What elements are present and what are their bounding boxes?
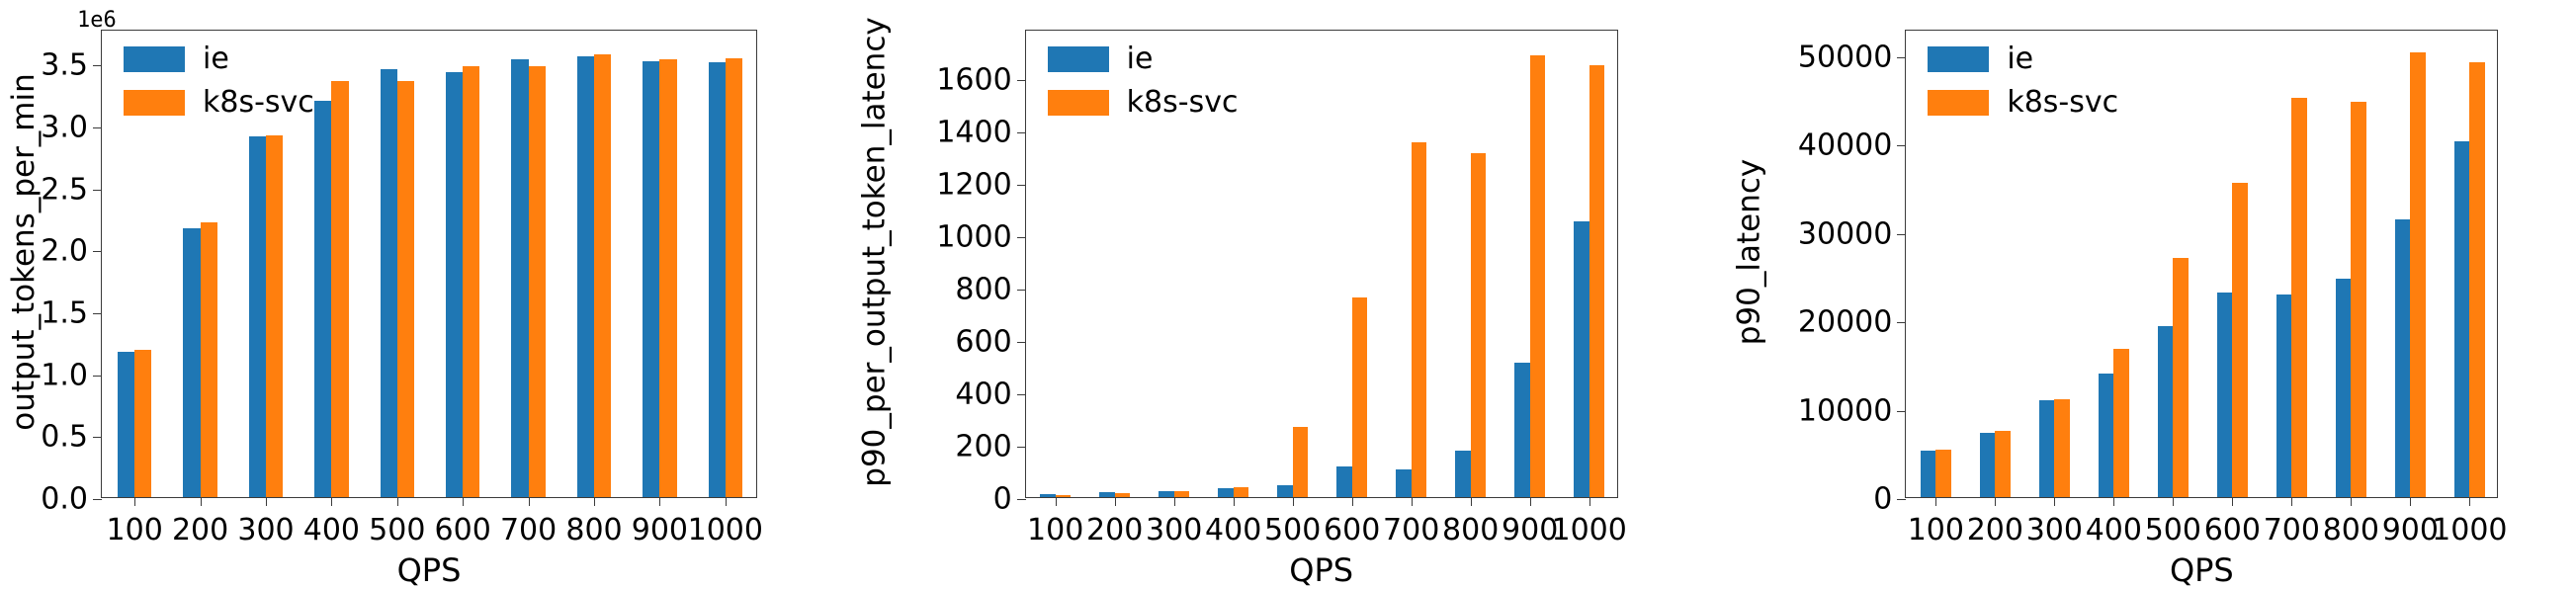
- x-axis-tick: [1995, 497, 1996, 506]
- x-axis-tick: [2469, 497, 2470, 506]
- bar-k8s-svc-100: [1935, 450, 1951, 497]
- legend-swatch-k8s-svc-icon: [124, 90, 185, 116]
- bar-k8s-svc-600: [463, 66, 479, 497]
- x-axis-tick: [726, 497, 727, 506]
- x-axis-tick-label: 900: [1502, 513, 1558, 547]
- x-axis-tick-label: 500: [369, 513, 425, 547]
- y-axis-tick-label: 40000: [1798, 128, 1892, 163]
- y-axis-tick-label: 400: [955, 378, 1011, 412]
- x-axis-tick: [331, 497, 332, 506]
- bar-k8s-svc-400: [331, 81, 348, 497]
- y-axis-tick: [93, 65, 102, 66]
- legend-entry-k8s-svc: k8s-svc: [1048, 88, 1239, 118]
- y-axis-tick-label: 600: [955, 325, 1011, 360]
- legend-swatch-k8s-svc-icon: [1048, 90, 1109, 116]
- axes-2: ie k8s-svc 02004006008001000120014001600…: [1025, 30, 1618, 498]
- x-axis-tick-label: 1000: [688, 513, 763, 547]
- bar-ie-800: [1455, 451, 1471, 497]
- y-axis-tick-label: 3.5: [41, 48, 88, 83]
- y-axis-tick-label: 2.0: [41, 234, 88, 269]
- x-axis-label-3: QPS: [1905, 551, 2498, 589]
- y-axis-tick-label: 50000: [1798, 40, 1892, 74]
- legend-swatch-ie-icon: [1928, 46, 1989, 72]
- bar-k8s-svc-1000: [2469, 62, 2485, 497]
- bar-ie-700: [1396, 469, 1412, 497]
- y-axis-tick: [1897, 145, 1906, 146]
- y-axis-tick-label: 0.5: [41, 420, 88, 455]
- x-axis-tick-label: 800: [2323, 513, 2379, 547]
- x-axis-tick-label: 100: [1027, 513, 1083, 547]
- x-axis-tick-label: 900: [632, 513, 688, 547]
- y-axis-tick: [1017, 80, 1026, 81]
- x-axis-tick: [201, 497, 202, 506]
- x-axis-tick-label: 800: [565, 513, 622, 547]
- bar-ie-900: [2395, 219, 2411, 497]
- x-axis-tick: [529, 497, 530, 506]
- legend-1: ie k8s-svc: [124, 44, 314, 118]
- bar-ie-900: [1514, 363, 1530, 497]
- legend-2: ie k8s-svc: [1048, 44, 1239, 118]
- bar-k8s-svc-1000: [1589, 65, 1605, 497]
- bar-ie-600: [446, 72, 463, 497]
- x-axis-tick-label: 700: [2264, 513, 2320, 547]
- panel-throughput: output_tokens_per_min 1e6 ie k8s-svc 0.0…: [0, 0, 859, 585]
- y-axis-tick: [1017, 342, 1026, 343]
- x-axis-tick: [2291, 497, 2292, 506]
- bar-ie-1000: [2454, 141, 2470, 497]
- y-axis-tick: [1017, 290, 1026, 291]
- x-axis-tick-label: 200: [1086, 513, 1143, 547]
- y-axis-tick: [1017, 394, 1026, 395]
- y-axis-tick-label: 10000: [1798, 393, 1892, 428]
- x-axis-tick: [2113, 497, 2114, 506]
- x-axis-tick-label: 700: [1383, 513, 1439, 547]
- x-axis-tick: [1056, 497, 1057, 506]
- bar-ie-500: [2158, 326, 2174, 497]
- legend-entry-ie: ie: [1928, 44, 2118, 74]
- y-axis-tick: [93, 499, 102, 500]
- x-axis-tick: [1115, 497, 1116, 506]
- bar-ie-200: [1099, 492, 1115, 497]
- legend-label-ie: ie: [203, 44, 229, 74]
- x-axis-tick-label: 600: [435, 513, 491, 547]
- x-axis-tick: [1589, 497, 1590, 506]
- bar-ie-600: [1336, 466, 1352, 497]
- bar-ie-100: [1921, 451, 1936, 497]
- bar-k8s-svc-600: [1352, 297, 1368, 497]
- bar-ie-300: [2039, 400, 2055, 497]
- y-axis-tick: [1017, 447, 1026, 448]
- y-axis-tick: [1897, 499, 1906, 500]
- x-axis-tick-label: 800: [1442, 513, 1499, 547]
- x-axis-label-1: QPS: [101, 551, 757, 589]
- y-axis-tick-label: 0.0: [41, 482, 88, 517]
- x-axis-tick-label: 400: [303, 513, 360, 547]
- y-axis-tick: [93, 127, 102, 128]
- x-axis-tick: [2173, 497, 2174, 506]
- y-axis-tick: [1897, 57, 1906, 58]
- x-axis-tick: [659, 497, 660, 506]
- legend-entry-ie: ie: [1048, 44, 1239, 74]
- y-axis-tick-label: 1400: [936, 116, 1011, 150]
- bar-k8s-svc-500: [2173, 258, 2189, 497]
- y-axis-tick: [1017, 185, 1026, 186]
- x-axis-tick-label: 300: [2026, 513, 2083, 547]
- y-axis-label-3: p90_latency: [1727, 6, 1770, 498]
- legend-entry-ie: ie: [124, 44, 314, 74]
- bar-ie-1000: [709, 62, 726, 497]
- bar-ie-1000: [1574, 221, 1589, 497]
- axes-3: ie k8s-svc 01000020000300004000050000100…: [1905, 30, 2498, 498]
- x-axis-tick: [1935, 497, 1936, 506]
- x-axis-tick: [1293, 497, 1294, 506]
- bar-ie-100: [118, 352, 134, 497]
- y-axis-tick-label: 1000: [936, 220, 1011, 255]
- bar-k8s-svc-200: [201, 222, 217, 497]
- y-axis-tick-label: 20000: [1798, 305, 1892, 340]
- legend-label-k8s-svc: k8s-svc: [2007, 88, 2118, 118]
- y-axis-tick-label: 200: [955, 430, 1011, 464]
- bar-k8s-svc-800: [1471, 153, 1487, 497]
- x-axis-tick: [1530, 497, 1531, 506]
- x-axis-tick-label: 700: [500, 513, 557, 547]
- figure: output_tokens_per_min 1e6 ie k8s-svc 0.0…: [0, 0, 2576, 585]
- bar-k8s-svc-700: [1412, 142, 1427, 497]
- x-axis-tick-label: 500: [1264, 513, 1321, 547]
- y-axis-tick-label: 1.5: [41, 295, 88, 330]
- legend-swatch-ie-icon: [124, 46, 185, 72]
- x-axis-tick: [2232, 497, 2233, 506]
- y-axis-tick: [1017, 132, 1026, 133]
- x-axis-tick-label: 400: [2086, 513, 2142, 547]
- x-axis-tick: [2054, 497, 2055, 506]
- y-axis-tick: [1897, 411, 1906, 412]
- y-axis-tick: [93, 313, 102, 314]
- y-axis-tick-label: 1.0: [41, 358, 88, 392]
- bar-ie-400: [314, 101, 331, 497]
- x-axis-tick: [1412, 497, 1413, 506]
- bar-ie-700: [2276, 294, 2292, 497]
- x-axis-tick-label: 300: [237, 513, 294, 547]
- x-axis-tick-label: 200: [172, 513, 228, 547]
- bar-k8s-svc-100: [134, 350, 151, 497]
- bar-ie-500: [381, 69, 397, 497]
- bar-k8s-svc-700: [529, 66, 546, 497]
- x-axis-tick-label: 300: [1146, 513, 1202, 547]
- y-axis-tick-label: 800: [955, 273, 1011, 307]
- bar-ie-400: [2099, 374, 2114, 497]
- x-axis-tick: [397, 497, 398, 506]
- y-axis-tick: [93, 437, 102, 438]
- y-axis-tick: [93, 251, 102, 252]
- y-axis-tick: [1017, 499, 1026, 500]
- y-axis-label-2: p90_per_output_token_latency: [853, 6, 897, 498]
- y-axis-tick: [1017, 237, 1026, 238]
- bar-k8s-svc-400: [1234, 487, 1249, 497]
- x-axis-tick: [2410, 497, 2411, 506]
- x-axis-tick-label: 600: [2204, 513, 2261, 547]
- y-axis-tick-label: 1200: [936, 168, 1011, 203]
- bar-k8s-svc-700: [2291, 98, 2307, 497]
- bar-k8s-svc-400: [2113, 349, 2129, 497]
- x-axis-tick-label: 200: [1967, 513, 2023, 547]
- y-axis-tick: [1897, 322, 1906, 323]
- x-axis-tick-label: 1000: [2432, 513, 2507, 547]
- y-axis-tick-label: 0: [1873, 482, 1892, 517]
- x-axis-tick-label: 100: [1908, 513, 1964, 547]
- legend-label-ie: ie: [2007, 44, 2033, 74]
- bar-k8s-svc-500: [397, 81, 414, 497]
- x-axis-tick-label: 600: [1324, 513, 1380, 547]
- bar-k8s-svc-900: [659, 59, 676, 497]
- y-axis-tick-label: 3.0: [41, 110, 88, 144]
- axes-1: ie k8s-svc 0.00.51.01.52.02.53.03.510020…: [101, 30, 757, 498]
- y-axis-tick: [93, 376, 102, 377]
- y-axis-tick: [93, 190, 102, 191]
- y-axis-tick-label: 30000: [1798, 216, 1892, 251]
- x-axis-tick: [1352, 497, 1353, 506]
- bar-ie-800: [577, 56, 594, 497]
- legend-entry-k8s-svc: k8s-svc: [1928, 88, 2118, 118]
- x-axis-tick: [266, 497, 267, 506]
- x-axis-tick-label: 500: [2145, 513, 2201, 547]
- x-axis-tick: [1471, 497, 1472, 506]
- bar-ie-300: [1159, 491, 1174, 497]
- x-axis-tick-label: 400: [1205, 513, 1261, 547]
- panel-per-output-token-latency: p90_per_output_token_latency ie k8s-svc …: [859, 0, 1718, 585]
- x-axis-tick-label: 900: [2382, 513, 2439, 547]
- legend-3: ie k8s-svc: [1928, 44, 2118, 118]
- bar-k8s-svc-1000: [726, 58, 742, 497]
- bar-ie-600: [2217, 293, 2233, 497]
- bar-ie-500: [1277, 485, 1293, 497]
- y-axis-label-1: output_tokens_per_min: [2, 6, 45, 498]
- bar-k8s-svc-900: [1530, 55, 1546, 497]
- bar-ie-200: [183, 228, 200, 497]
- bar-k8s-svc-200: [1115, 493, 1131, 498]
- x-axis-tick: [1234, 497, 1235, 506]
- legend-swatch-k8s-svc-icon: [1928, 90, 1989, 116]
- bar-k8s-svc-300: [266, 135, 283, 497]
- bar-k8s-svc-900: [2410, 52, 2426, 497]
- panel-p90-latency: p90_latency ie k8s-svc 01000020000300004…: [1717, 0, 2576, 585]
- legend-label-ie: ie: [1127, 44, 1154, 74]
- bar-ie-800: [2336, 279, 2352, 497]
- y-axis-tick-label: 1600: [936, 63, 1011, 98]
- y-axis-tick-label: 0: [993, 482, 1012, 517]
- x-axis-tick: [2351, 497, 2352, 506]
- x-axis-tick-label: 100: [107, 513, 163, 547]
- bar-k8s-svc-300: [1174, 491, 1190, 497]
- x-axis-tick: [594, 497, 595, 506]
- bar-k8s-svc-200: [1995, 431, 2011, 497]
- bar-k8s-svc-500: [1293, 427, 1309, 497]
- legend-label-k8s-svc: k8s-svc: [1127, 88, 1239, 118]
- bar-k8s-svc-600: [2232, 183, 2248, 497]
- legend-label-k8s-svc: k8s-svc: [203, 88, 314, 118]
- bar-ie-400: [1218, 488, 1234, 497]
- x-axis-tick: [1174, 497, 1175, 506]
- legend-entry-k8s-svc: k8s-svc: [124, 88, 314, 118]
- legend-swatch-ie-icon: [1048, 46, 1109, 72]
- x-axis-tick: [463, 497, 464, 506]
- bar-ie-700: [511, 59, 528, 497]
- bar-ie-300: [249, 136, 266, 497]
- bar-k8s-svc-800: [2351, 102, 2366, 497]
- x-axis-label-2: QPS: [1025, 551, 1618, 589]
- bar-ie-200: [1980, 433, 1996, 497]
- x-axis-tick: [134, 497, 135, 506]
- bar-k8s-svc-300: [2054, 399, 2070, 497]
- bar-k8s-svc-800: [594, 54, 611, 497]
- x-axis-tick-label: 1000: [1551, 513, 1626, 547]
- bar-ie-900: [643, 61, 659, 497]
- y-axis-tick: [1897, 234, 1906, 235]
- y-axis-tick-label: 2.5: [41, 172, 88, 207]
- bar-ie-100: [1040, 494, 1056, 497]
- bar-k8s-svc-100: [1056, 495, 1072, 497]
